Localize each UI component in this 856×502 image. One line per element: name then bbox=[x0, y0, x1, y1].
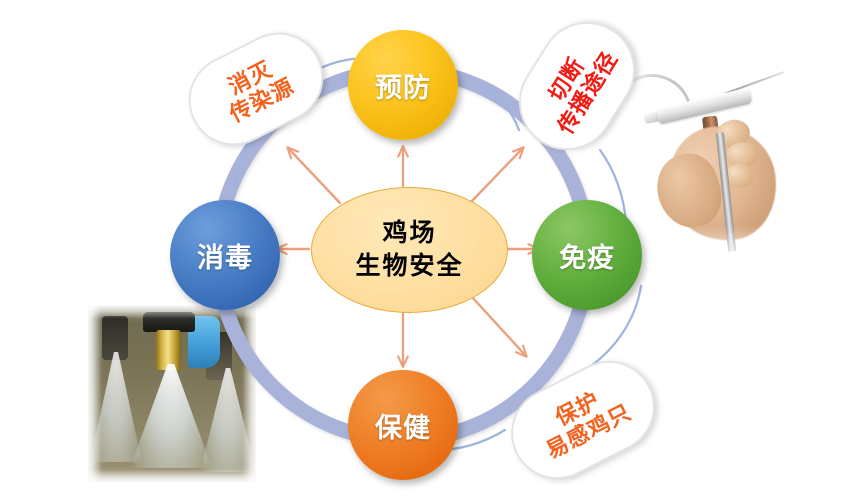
arrow-down-right bbox=[472, 297, 526, 356]
node-health-care[interactable]: 保健 bbox=[348, 370, 458, 480]
arrow-up-left bbox=[288, 148, 340, 203]
center-node-farm-biosecurity[interactable]: 鸡场 生物安全 bbox=[311, 187, 508, 313]
node-immunization-label: 免疫 bbox=[559, 236, 615, 275]
node-disinfection-label: 消毒 bbox=[197, 236, 253, 275]
arrow-up-right bbox=[470, 148, 523, 203]
center-line-2: 生物安全 bbox=[355, 254, 463, 279]
biosecurity-diagram: 预防 免疫 保健 消毒 鸡场 生物安全 消灭 传染源 切断 传播途径 保护 易感… bbox=[0, 0, 856, 502]
node-disinfection[interactable]: 消毒 bbox=[170, 200, 280, 310]
node-prevention-label: 预防 bbox=[375, 66, 431, 105]
node-prevention[interactable]: 预防 bbox=[348, 30, 458, 140]
node-health-care-label: 保健 bbox=[375, 406, 431, 445]
node-immunization[interactable]: 免疫 bbox=[532, 200, 642, 310]
center-line-1: 鸡场 bbox=[382, 221, 436, 246]
